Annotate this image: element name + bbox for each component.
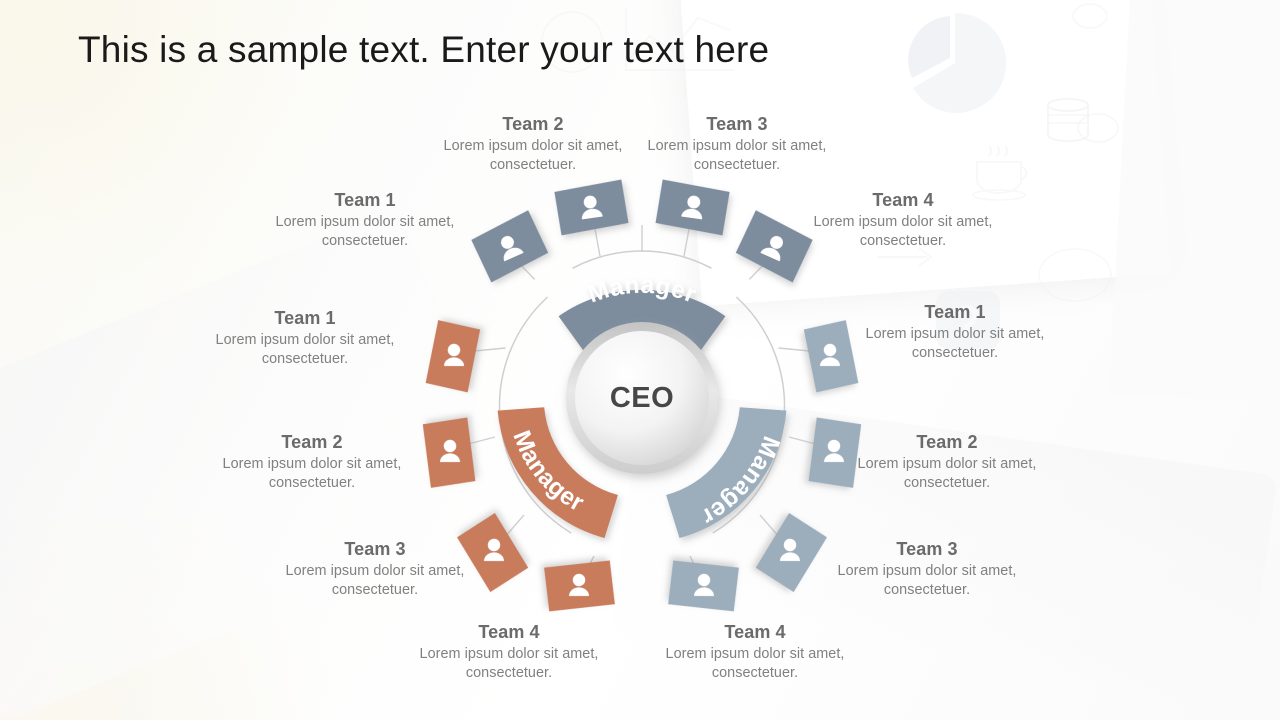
person-tile-top-1[interactable] [470,210,550,283]
person-tile-top-3[interactable] [655,179,730,235]
callout-team-right-lower: Team 2 Lorem ipsum dolor sit amet, conse… [832,430,1062,493]
callout-title: Team 3 [812,537,1042,561]
callout-description: Lorem ipsum dolor sit amet, consectetuer… [840,325,1070,363]
callout-team-bottom-left: Team 4 Lorem ipsum dolor sit amet, conse… [394,620,624,683]
ceo-node[interactable]: CEO [566,322,718,474]
callout-title: Team 1 [190,306,420,330]
callout-title: Team 3 [260,537,490,561]
slide-canvas: This is a sample text. Enter your text h… [0,0,1280,720]
callout-team-top-left-outer: Team 1 Lorem ipsum dolor sit amet, conse… [250,188,480,251]
callout-description: Lorem ipsum dolor sit amet, consectetuer… [418,137,648,175]
callout-description: Lorem ipsum dolor sit amet, consectetuer… [190,331,420,369]
callout-title: Team 4 [640,620,870,644]
callout-team-top-left-inner: Team 2 Lorem ipsum dolor sit amet, conse… [418,112,648,175]
callout-team-left-bottom: Team 3 Lorem ipsum dolor sit amet, conse… [260,537,490,600]
callout-description: Lorem ipsum dolor sit amet, consectetuer… [394,645,624,683]
callout-title: Team 1 [250,188,480,212]
person-tile-top-2[interactable] [554,179,629,235]
callout-team-right-bottom: Team 3 Lorem ipsum dolor sit amet, conse… [812,537,1042,600]
callout-description: Lorem ipsum dolor sit amet, consectetuer… [250,213,480,251]
callout-team-right-upper: Team 1 Lorem ipsum dolor sit amet, conse… [840,300,1070,363]
person-tile-left-4[interactable] [423,319,483,393]
callout-team-bottom-right: Team 4 Lorem ipsum dolor sit amet, conse… [640,620,870,683]
callout-description: Lorem ipsum dolor sit amet, consectetuer… [197,455,427,493]
callout-team-left-upper: Team 1 Lorem ipsum dolor sit amet, conse… [190,306,420,369]
person-tile-left-1[interactable] [543,558,616,613]
callout-team-left-lower: Team 2 Lorem ipsum dolor sit amet, conse… [197,430,427,493]
callout-description: Lorem ipsum dolor sit amet, consectetuer… [832,455,1062,493]
callout-title: Team 2 [418,112,648,136]
person-tile-left-3[interactable] [420,416,479,488]
callout-description: Lorem ipsum dolor sit amet, consectetuer… [622,137,852,175]
callout-team-top-right-outer: Team 4 Lorem ipsum dolor sit amet, conse… [788,188,1018,251]
callout-description: Lorem ipsum dolor sit amet, consectetuer… [812,562,1042,600]
callout-title: Team 3 [622,112,852,136]
person-tile-right-4[interactable] [667,558,740,613]
callout-title: Team 2 [197,430,427,454]
callout-title: Team 4 [788,188,1018,212]
org-chart-diagram: Manager Manager Manager [0,0,1280,720]
callout-description: Lorem ipsum dolor sit amet, consectetuer… [640,645,870,683]
callout-title: Team 2 [832,430,1062,454]
callout-team-top-right-inner: Team 3 Lorem ipsum dolor sit amet, conse… [622,112,852,175]
callout-title: Team 4 [394,620,624,644]
callout-description: Lorem ipsum dolor sit amet, consectetuer… [788,213,1018,251]
callout-description: Lorem ipsum dolor sit amet, consectetuer… [260,562,490,600]
ceo-label: CEO [610,382,674,414]
callout-title: Team 1 [840,300,1070,324]
